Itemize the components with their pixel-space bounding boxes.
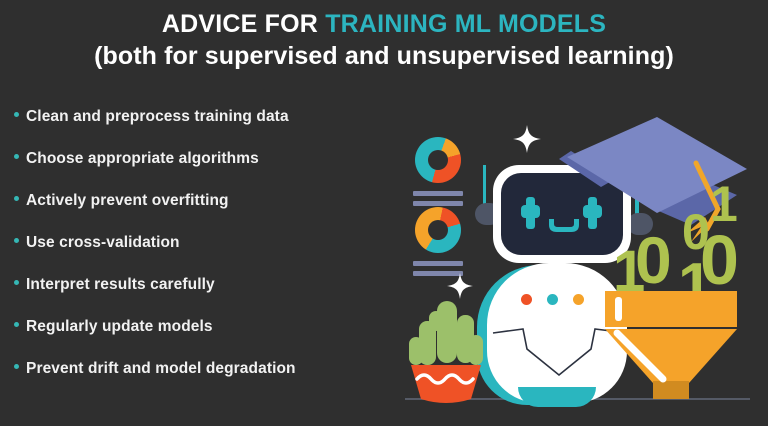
- binary-digit: 0: [635, 227, 672, 293]
- list-item-label: Actively prevent overfitting: [26, 192, 229, 210]
- robot-indicator-dot-teal: [547, 294, 558, 305]
- list-item: Prevent drift and model degradation: [14, 360, 394, 402]
- list-item: Interpret results carefully: [14, 276, 394, 318]
- bullet-dot-icon: [14, 112, 19, 117]
- list-item: Clean and preprocess training data: [14, 108, 394, 150]
- list-item-label: Interpret results carefully: [26, 276, 215, 294]
- chart-bar: [413, 201, 463, 206]
- robot-indicator-dot-red: [521, 294, 532, 305]
- illustration: 1 0 0 1 1 0: [395, 95, 768, 415]
- list-item-label: Regularly update models: [26, 318, 213, 336]
- list-item: Actively prevent overfitting: [14, 192, 394, 234]
- page-subtitle: (both for supervised and unsupervised le…: [0, 40, 768, 73]
- funnel-icon: [601, 287, 741, 399]
- bullet-dot-icon: [14, 364, 19, 369]
- donut-hole: [428, 150, 448, 170]
- list-item-label: Choose appropriate algorithms: [26, 150, 259, 168]
- poster-canvas: ADVICE FOR TRAINING ML MODELS (both for …: [0, 0, 768, 426]
- page-title: ADVICE FOR TRAINING ML MODELS: [0, 8, 768, 40]
- list-item-label: Prevent drift and model degradation: [26, 360, 296, 378]
- robot-antenna-icon: [483, 165, 486, 207]
- title-accent-text: TRAINING ML MODELS: [325, 10, 606, 38]
- robot-indicator-dot-orange: [573, 294, 584, 305]
- bullet-dot-icon: [14, 196, 19, 201]
- list-item-label: Use cross-validation: [26, 234, 180, 252]
- binary-digit: 0: [700, 225, 739, 295]
- advice-list: Clean and preprocess training data Choos…: [14, 108, 394, 402]
- list-item: Choose appropriate algorithms: [14, 150, 394, 192]
- donut-hole: [428, 220, 448, 240]
- potted-cactus-icon: [401, 295, 491, 403]
- bullet-dot-icon: [14, 154, 19, 159]
- title-plain-text: ADVICE FOR: [162, 10, 325, 38]
- title-block: ADVICE FOR TRAINING ML MODELS (both for …: [0, 8, 768, 73]
- chart-bar: [413, 191, 463, 196]
- list-item: Use cross-validation: [14, 234, 394, 276]
- list-item-label: Clean and preprocess training data: [26, 108, 289, 126]
- bullet-dot-icon: [14, 238, 19, 243]
- list-item: Regularly update models: [14, 318, 394, 360]
- robot-base: [518, 387, 596, 407]
- bullet-dot-icon: [14, 322, 19, 327]
- sparkle-star-icon: [513, 125, 541, 153]
- chart-bar: [413, 261, 463, 266]
- bullet-dot-icon: [14, 280, 19, 285]
